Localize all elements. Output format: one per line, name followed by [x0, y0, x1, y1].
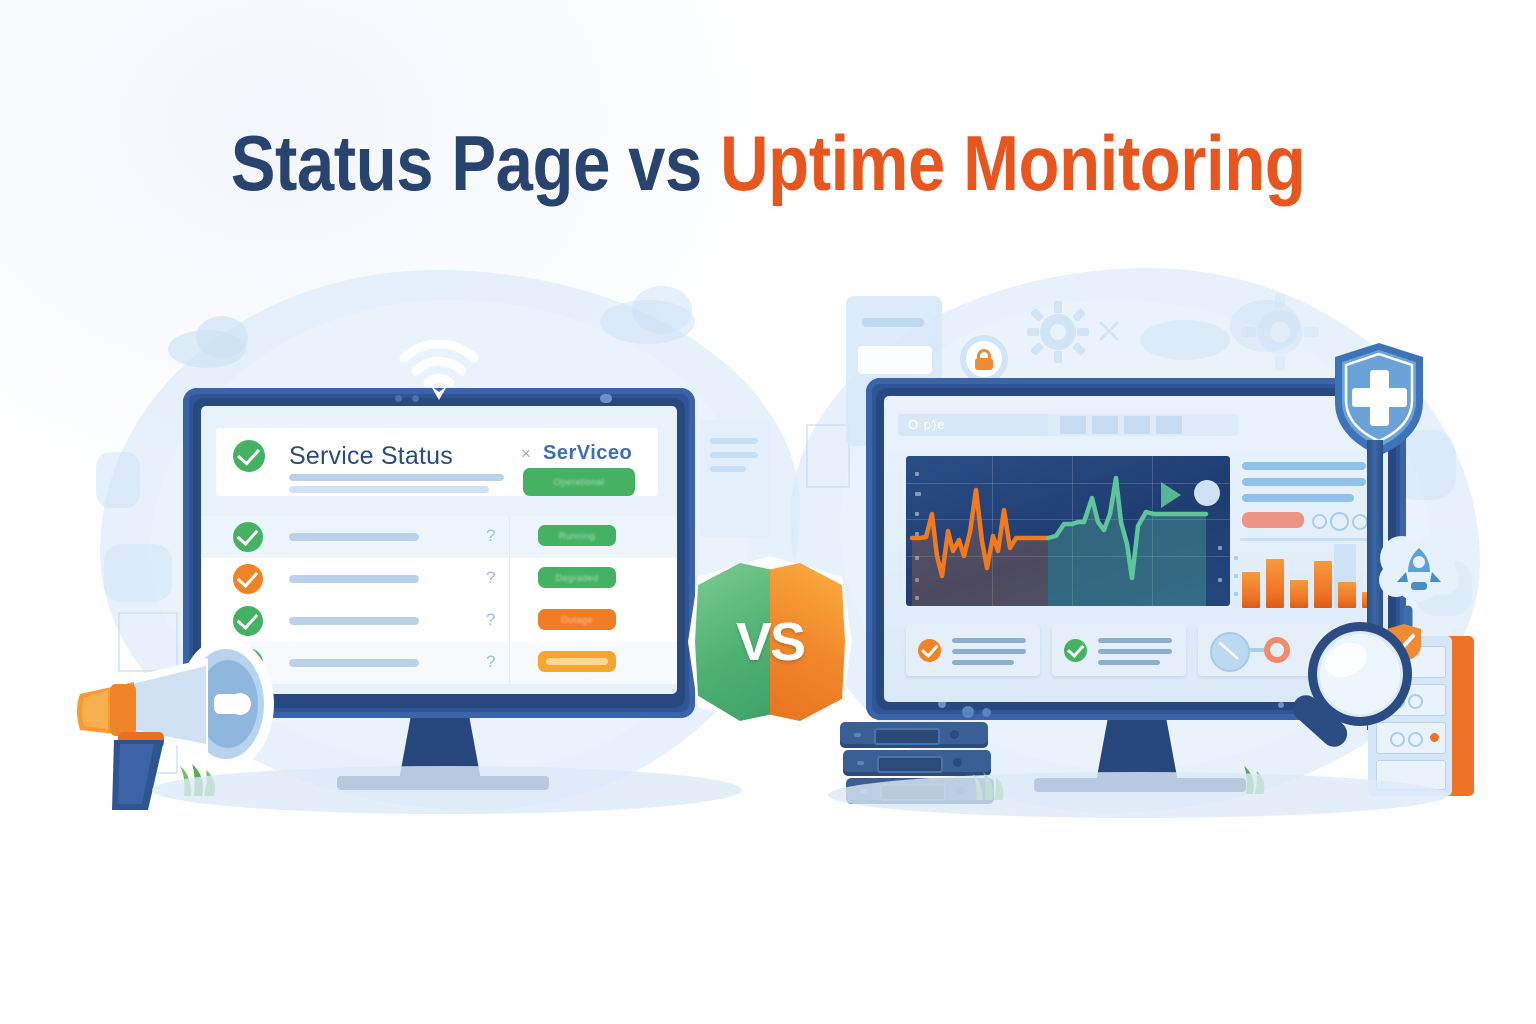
topbar-seg-2: [1092, 416, 1118, 434]
side-chart-tick: [1234, 556, 1238, 560]
chart-marker-dot: [1194, 480, 1220, 506]
plus-decor-icon: [1096, 318, 1122, 344]
side-panel-divider: [1240, 538, 1368, 541]
topbar-seg-1: [1060, 416, 1086, 434]
service-status-title: Service Status: [289, 442, 453, 471]
gear-icon-small: [1240, 292, 1320, 372]
side-panel-text-line: [1242, 462, 1366, 470]
side-panel-highlight-pill[interactable]: [1242, 512, 1304, 528]
square-decor-3: [806, 424, 850, 488]
side-panel-ring-icon: [1312, 514, 1327, 529]
title-left-part: Status Page vs: [231, 119, 720, 207]
server-side-led-2: [982, 708, 991, 717]
server-knob: [950, 730, 959, 739]
blob-decor-left-2: [104, 544, 172, 602]
row-status-pill[interactable]: Running: [538, 525, 616, 546]
table-row[interactable]: ? Running: [201, 516, 677, 559]
logo-x-icon: ×: [521, 444, 531, 464]
row-status-pill-label: Running: [538, 531, 616, 541]
row-label-bar: [289, 659, 419, 667]
cloud-decor-5: [1140, 320, 1230, 360]
topbar-seg-4: [1156, 416, 1182, 434]
side-panel-text-line: [1242, 478, 1366, 486]
topbar-seg-3: [1124, 416, 1150, 434]
blob-decor-left-1: [96, 452, 140, 508]
uptime-chart: [906, 456, 1230, 606]
side-chart-tick: [1234, 592, 1238, 596]
decor-card-right-2-line3: [710, 466, 746, 472]
stat-card[interactable]: [906, 624, 1040, 676]
header-text-bar-1: [289, 474, 504, 481]
row-number: ?: [486, 526, 495, 546]
server-led: [857, 761, 864, 765]
side-bar: [1266, 559, 1284, 608]
side-chart-tick: [1234, 574, 1238, 578]
row-status-pill-label: Degraded: [538, 573, 616, 583]
row-status-pill[interactable]: Degraded: [538, 567, 616, 588]
decor-card-right-2-line2: [710, 452, 758, 458]
wifi-icon: [398, 340, 480, 400]
stat-card-line: [1098, 660, 1160, 665]
side-panel-ring-icon: [1330, 512, 1349, 531]
row-divider: [509, 600, 510, 642]
floor-shadow-left: [152, 766, 742, 814]
stat-card-line: [1098, 638, 1172, 643]
row-status-pill-label: Outage: [538, 615, 616, 625]
side-bar: [1314, 561, 1332, 608]
title-right-part: Uptime Monitoring: [720, 119, 1305, 207]
stat-card-check-icon: [918, 639, 941, 662]
poster-canvas: Status Page vs Uptime Monitoring: [0, 0, 1536, 1024]
header-status-pill-label: Operational: [523, 477, 635, 487]
row-label-bar: [289, 533, 419, 541]
rocket-icon: [1376, 528, 1462, 608]
row-divider: [509, 642, 510, 684]
stat-card[interactable]: [1052, 624, 1186, 676]
dashboard-topbar-text: O p)e: [908, 417, 946, 432]
row-divider: [509, 558, 510, 600]
brand-logo-text: SerViceo: [543, 442, 632, 465]
cloud-decor-4: [632, 286, 692, 334]
left-monitor-indicator: [600, 394, 612, 403]
row-label-bar: [289, 575, 419, 583]
row-label-bar: [289, 617, 419, 625]
server-knob: [953, 758, 962, 767]
gauge-icon: [1210, 632, 1250, 672]
magnifier-icon: [1282, 612, 1432, 772]
table-row[interactable]: ? Degraded: [201, 558, 677, 601]
server-side-led-1: [962, 706, 974, 718]
side-bar: [1338, 582, 1356, 608]
stat-card-line: [952, 649, 1026, 654]
side-bar: [1242, 572, 1260, 608]
decor-card-right-1-box: [858, 346, 932, 374]
vs-badge-text: VS: [688, 611, 852, 673]
row-status-pill[interactable]: [538, 651, 616, 672]
side-panel-ring-icon: [1352, 514, 1368, 530]
stat-card-line: [952, 638, 1026, 643]
header-status-pill[interactable]: Operational: [523, 468, 635, 496]
floor-shadow-right: [828, 772, 1448, 818]
row-divider: [509, 516, 510, 558]
gear-icon: [1026, 300, 1090, 364]
vs-badge: VS: [688, 556, 852, 728]
page-title: Status Page vs Uptime Monitoring: [108, 118, 1429, 209]
header-text-bar-2: [289, 486, 489, 493]
server-drive-slot: [874, 728, 940, 745]
decor-card-right-2-line: [710, 438, 758, 444]
server-led: [854, 733, 861, 737]
chart-series-svg: [906, 456, 1230, 606]
stat-card-check-icon: [1064, 639, 1087, 662]
side-panel-text-line: [1242, 494, 1354, 502]
stat-card-line: [1098, 649, 1172, 654]
row-check-circle-icon: [233, 564, 263, 594]
cloud-decor-2: [196, 316, 248, 358]
row-number: ?: [486, 610, 495, 630]
side-bar: [1290, 580, 1308, 608]
row-check-circle-icon: [233, 522, 263, 552]
play-triangle-icon: [1161, 482, 1181, 508]
decor-card-right-1-line: [862, 318, 924, 327]
server-drive-slot: [877, 756, 943, 773]
row-number: ?: [486, 568, 495, 588]
header-check-circle-icon: [233, 440, 265, 472]
row-progress-fill: [546, 658, 608, 665]
stat-card-line: [952, 660, 1014, 665]
row-status-pill[interactable]: Outage: [538, 609, 616, 630]
row-number: ?: [486, 652, 495, 672]
